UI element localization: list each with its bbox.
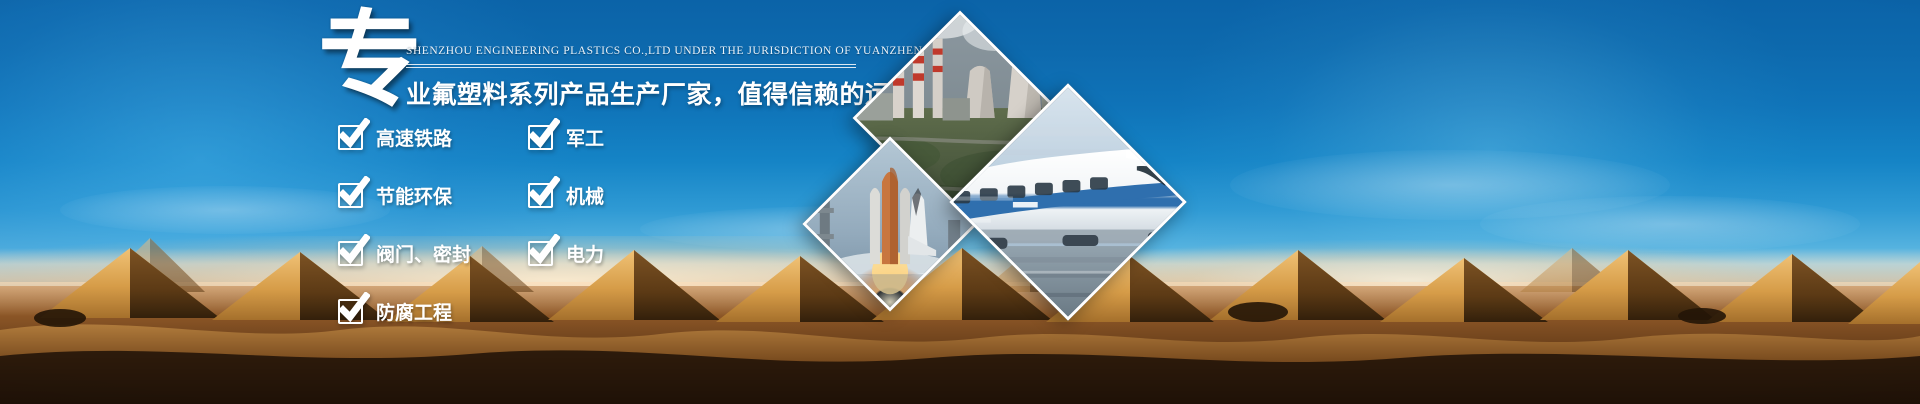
check-icon [528, 183, 553, 208]
feature-item[interactable]: 军工 [528, 120, 604, 154]
feature-label: 高速铁路 [376, 124, 452, 151]
feature-label: 防腐工程 [376, 298, 452, 325]
feature-item[interactable]: 阀门、密封 [338, 236, 471, 270]
feature-label: 阀门、密封 [376, 240, 471, 267]
feature-label: 节能环保 [376, 182, 452, 209]
feature-label: 军工 [566, 124, 604, 151]
check-icon [338, 125, 363, 150]
feature-item[interactable]: 防腐工程 [338, 294, 471, 328]
feature-item[interactable]: 高速铁路 [338, 120, 471, 154]
check-icon [338, 241, 363, 266]
headline-block: SHENZHOU ENGINEERING PLASTICS CO.,LTD UN… [406, 44, 946, 111]
feature-label: 电力 [566, 240, 604, 267]
check-icon [528, 125, 553, 150]
feature-item[interactable]: 电力 [528, 236, 604, 270]
check-icon [338, 299, 363, 324]
feature-list-right: 军工 机械 电力 [528, 120, 604, 294]
feature-list-left: 高速铁路 节能环保 阀门、密封 防腐工程 [338, 120, 471, 352]
check-icon [528, 241, 553, 266]
feature-item[interactable]: 机械 [528, 178, 604, 212]
headline-divider [406, 64, 856, 68]
promo-banner: 专 SHENZHOU ENGINEERING PLASTICS CO.,LTD … [0, 0, 1920, 404]
feature-label: 机械 [566, 182, 604, 209]
check-icon [338, 183, 363, 208]
feature-item[interactable]: 节能环保 [338, 178, 471, 212]
headline-english: SHENZHOU ENGINEERING PLASTICS CO.,LTD UN… [406, 44, 946, 59]
